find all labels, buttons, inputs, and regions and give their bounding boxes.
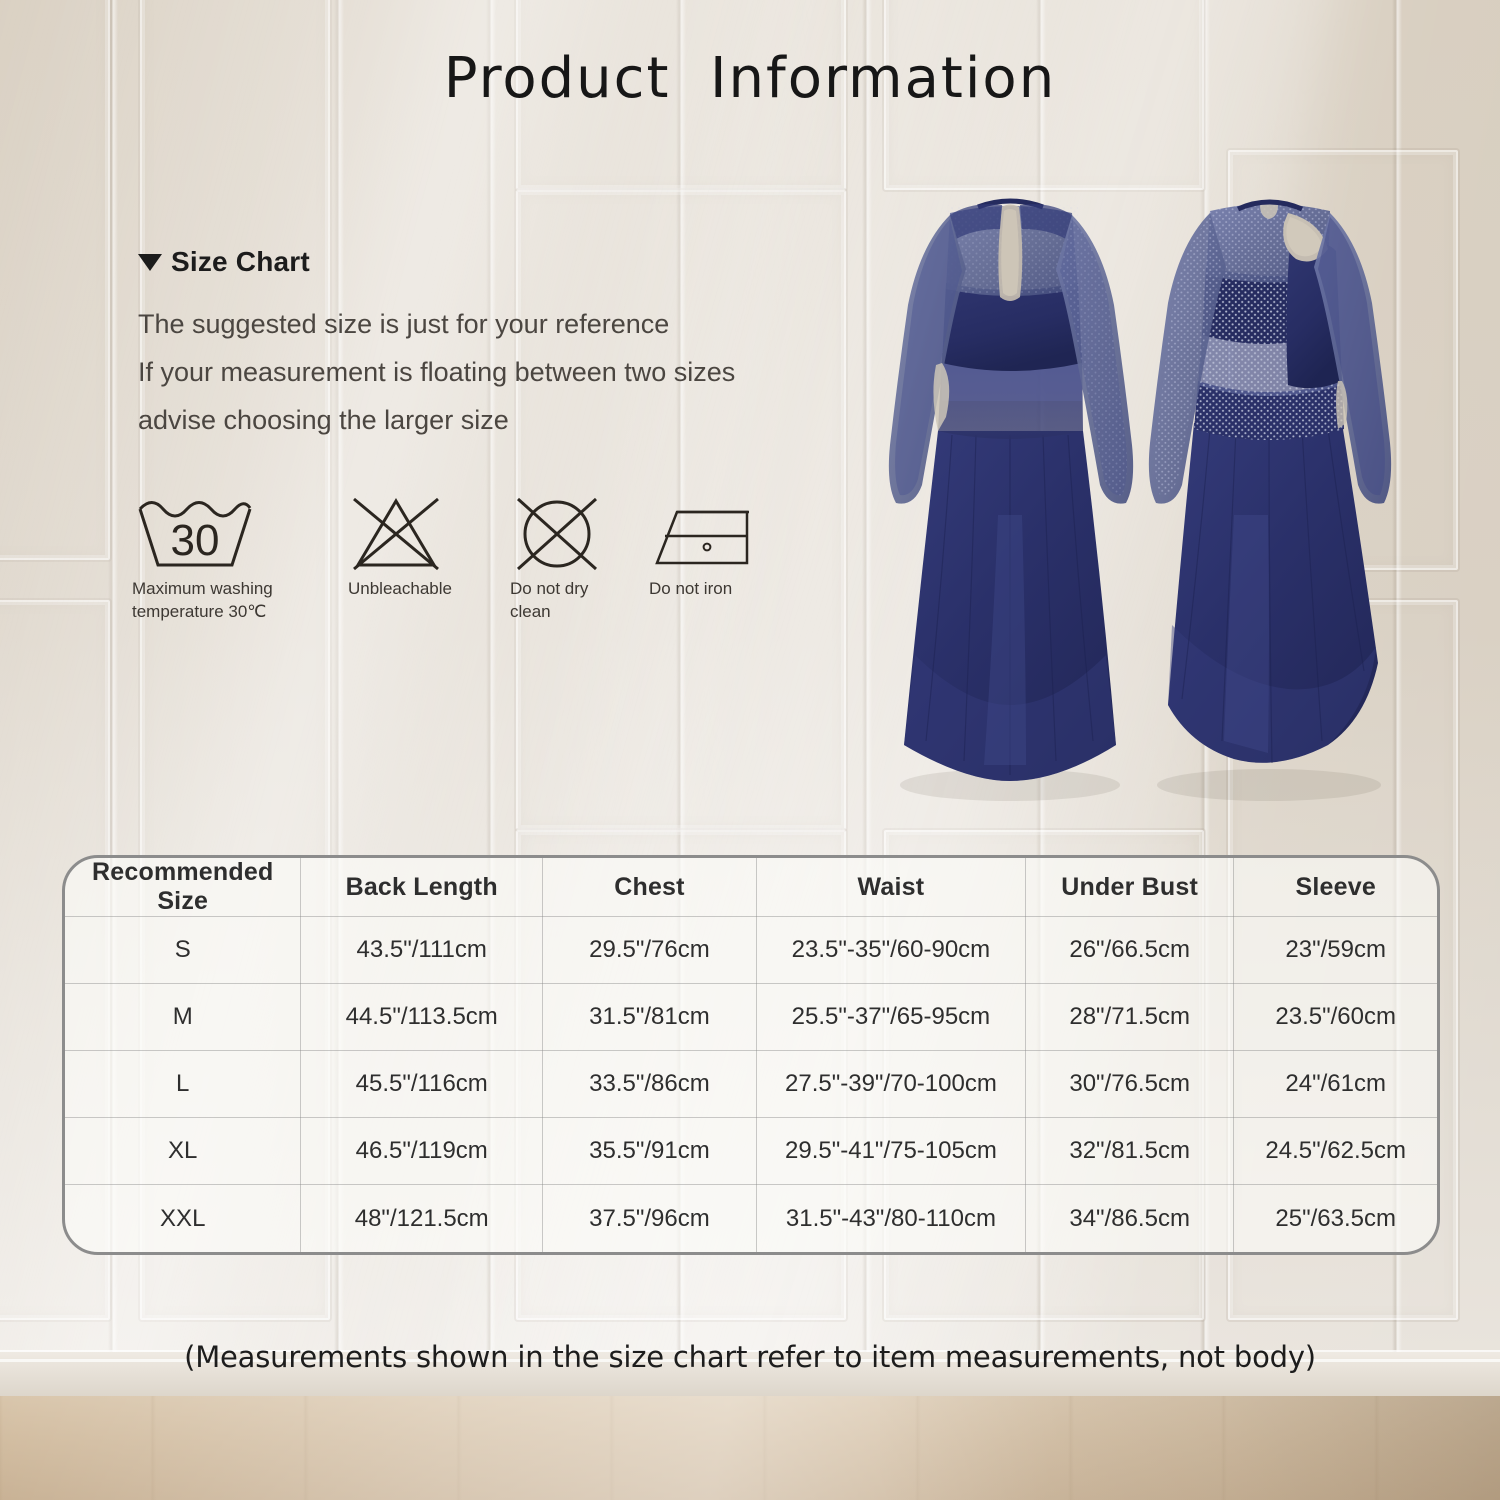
cell-back-length: 48"/121.5cm <box>301 1185 542 1252</box>
cell-size: L <box>65 1051 301 1118</box>
cell-waist: 23.5"-35"/60-90cm <box>756 917 1025 984</box>
size-chart-table: Recommended Size Back Length Chest Waist… <box>65 858 1437 1252</box>
cell-size: XXL <box>65 1185 301 1252</box>
product-images <box>880 185 1400 805</box>
size-chart-heading[interactable]: Size Chart <box>138 246 310 278</box>
size-note-line: advise choosing the larger size <box>138 396 898 444</box>
cell-waist: 31.5"-43"/80-110cm <box>756 1185 1025 1252</box>
cell-waist: 27.5"-39"/70-100cm <box>756 1051 1025 1118</box>
table-row: XL 46.5"/119cm 35.5"/91cm 29.5"-41"/75-1… <box>65 1118 1437 1185</box>
cell-chest: 37.5"/96cm <box>542 1185 756 1252</box>
column-header-sleeve: Sleeve <box>1234 858 1437 917</box>
table-row: M 44.5"/113.5cm 31.5"/81cm 25.5"-37"/65-… <box>65 984 1437 1051</box>
care-symbols-row: 30 Maximum washing temperature 30℃ Unble… <box>132 495 777 623</box>
table-row: L 45.5"/116cm 33.5"/86cm 27.5"-39"/70-10… <box>65 1051 1437 1118</box>
size-chart-notes: The suggested size is just for your refe… <box>138 300 898 444</box>
cell-sleeve: 23.5"/60cm <box>1234 984 1437 1051</box>
column-header-waist: Waist <box>756 858 1025 917</box>
cell-back-length: 45.5"/116cm <box>301 1051 542 1118</box>
measurement-footnote: (Measurements shown in the size chart re… <box>0 1340 1500 1374</box>
cell-chest: 35.5"/91cm <box>542 1118 756 1185</box>
column-header-back-length: Back Length <box>301 858 542 917</box>
cell-waist: 29.5"-41"/75-105cm <box>756 1118 1025 1185</box>
cell-sleeve: 23"/59cm <box>1234 917 1437 984</box>
table-row: S 43.5"/111cm 29.5"/76cm 23.5"-35"/60-90… <box>65 917 1437 984</box>
column-header-recommended-size: Recommended Size <box>65 858 301 917</box>
cell-waist: 25.5"-37"/65-95cm <box>756 984 1025 1051</box>
care-symbol-wash: 30 Maximum washing temperature 30℃ <box>132 495 322 623</box>
cell-under-bust: 26"/66.5cm <box>1025 917 1234 984</box>
cell-chest: 29.5"/76cm <box>542 917 756 984</box>
cell-size: S <box>65 917 301 984</box>
care-symbol-no-dry-clean: Do not dry clean <box>477 495 627 623</box>
cell-under-bust: 30"/76.5cm <box>1025 1051 1234 1118</box>
wash-tub-30-icon: 30 <box>132 495 322 573</box>
cell-sleeve: 25"/63.5cm <box>1234 1185 1437 1252</box>
cell-under-bust: 32"/81.5cm <box>1025 1118 1234 1185</box>
table-header-row: Recommended Size Back Length Chest Waist… <box>65 858 1437 917</box>
page-title: Product Information <box>0 46 1500 111</box>
care-symbol-label: Maximum washing temperature 30℃ <box>132 577 322 623</box>
size-note-line: The suggested size is just for your refe… <box>138 300 898 348</box>
cell-back-length: 43.5"/111cm <box>301 917 542 984</box>
table-row: XXL 48"/121.5cm 37.5"/96cm 31.5"-43"/80-… <box>65 1185 1437 1252</box>
no-bleach-crossed-triangle-icon <box>348 495 477 573</box>
size-chart-label: Size Chart <box>171 246 310 278</box>
column-header-chest: Chest <box>542 858 756 917</box>
size-note-line: If your measurement is floating between … <box>138 348 898 396</box>
cell-back-length: 44.5"/113.5cm <box>301 984 542 1051</box>
cell-chest: 33.5"/86cm <box>542 1051 756 1118</box>
care-symbol-label: Do not iron <box>649 577 777 600</box>
floor-shadow <box>880 1396 1500 1500</box>
svg-text:30: 30 <box>171 516 220 565</box>
cell-size: M <box>65 984 301 1051</box>
size-chart-table-container: Recommended Size Back Length Chest Waist… <box>62 855 1440 1255</box>
dress-back-view <box>880 185 1140 805</box>
cell-sleeve: 24.5"/62.5cm <box>1234 1118 1437 1185</box>
dress-front-view <box>1138 185 1400 805</box>
no-iron-icon <box>649 495 777 573</box>
cell-size: XL <box>65 1118 301 1185</box>
cell-sleeve: 24"/61cm <box>1234 1051 1437 1118</box>
column-header-under-bust: Under Bust <box>1025 858 1234 917</box>
cell-under-bust: 34"/86.5cm <box>1025 1185 1234 1252</box>
care-symbol-label: Unbleachable <box>348 577 477 600</box>
cell-under-bust: 28"/71.5cm <box>1025 984 1234 1051</box>
product-information-page: Product Information Size Chart The sugge… <box>0 0 1500 1500</box>
care-symbol-label: Do not dry clean <box>510 577 627 623</box>
care-symbol-no-iron: Do not iron <box>627 495 777 600</box>
care-symbol-no-bleach: Unbleachable <box>322 495 477 600</box>
cell-back-length: 46.5"/119cm <box>301 1118 542 1185</box>
no-dry-clean-crossed-circle-icon <box>510 495 627 573</box>
cell-chest: 31.5"/81cm <box>542 984 756 1051</box>
triangle-down-icon <box>138 254 162 271</box>
